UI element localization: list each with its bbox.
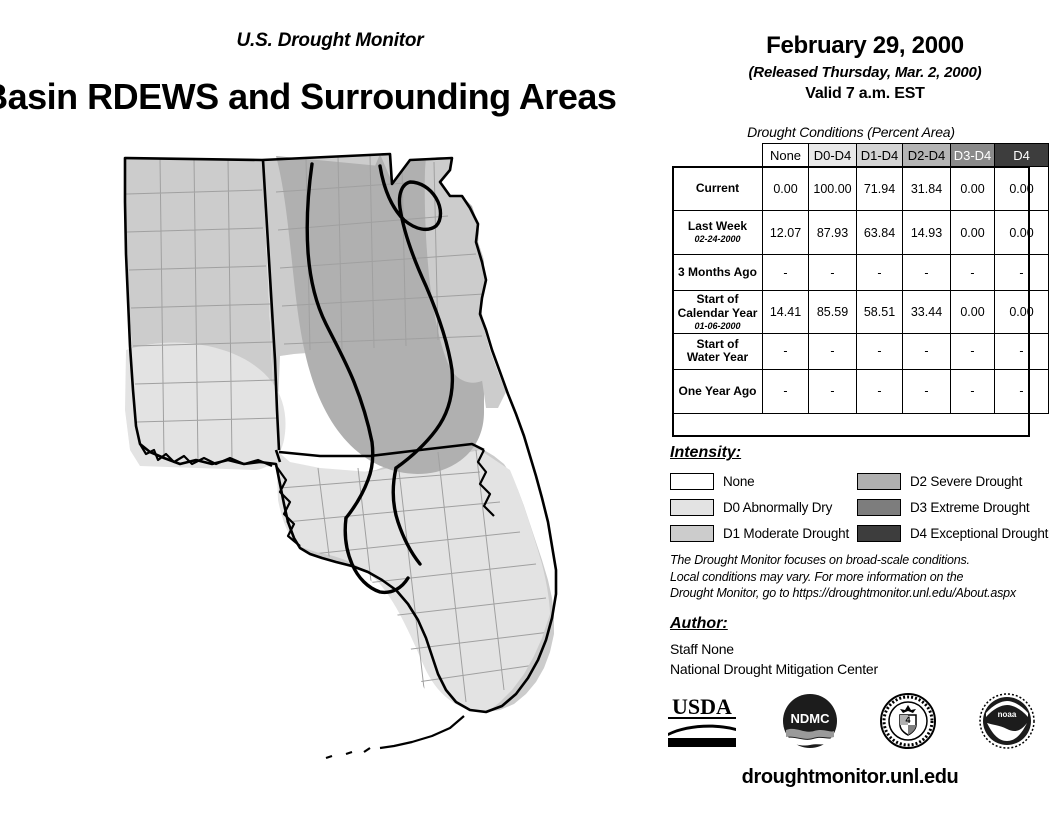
col-header-d2d4: D2-D4: [903, 144, 951, 167]
row-label-text: Last Week: [688, 219, 747, 233]
legend-label-d4: D4 Exceptional Drought: [910, 526, 1048, 541]
row-label-date: 01-06-2000: [676, 321, 759, 331]
disclaimer-line-2: Local conditions may vary. For more info…: [670, 569, 1050, 586]
site-url: droughtmonitor.unl.edu: [665, 766, 1035, 789]
cell-calyear-none: 14.41: [763, 291, 809, 334]
cell-wateryear-none: -: [763, 333, 809, 369]
svg-text:NDMC: NDMC: [790, 711, 830, 726]
row-label-date: 02-24-2000: [676, 234, 759, 244]
author-name: Staff None: [670, 640, 878, 660]
cell-calyear-d4: 0.00: [995, 291, 1049, 334]
cell-calyear-d3d4: 0.00: [951, 291, 995, 334]
usda-logo: USDA: [665, 695, 739, 747]
legend-item-d2: D2 Severe Drought: [857, 468, 1048, 494]
legend-item-d4: D4 Exceptional Drought: [857, 520, 1048, 546]
legend-swatch-d3: [857, 499, 901, 516]
ndmc-logo: NDMC: [782, 693, 838, 749]
legend-column-right: D2 Severe Drought D3 Extreme Drought D4 …: [857, 468, 1048, 546]
cell-oneyear-d1d4: -: [857, 369, 903, 413]
cell-current-d3d4: 0.00: [951, 167, 995, 211]
col-header-d4: D4: [995, 144, 1049, 167]
table-caption: Drought Conditions (Percent Area): [672, 124, 1030, 140]
table-row: Start of Water Year - - - - - -: [673, 333, 1049, 369]
cell-current-none: 0.00: [763, 167, 809, 211]
row-label-last-week: Last Week 02-24-2000: [673, 211, 763, 255]
cell-3mo-d4: -: [995, 255, 1049, 291]
cell-3mo-d3d4: -: [951, 255, 995, 291]
col-header-d3d4: D3-D4: [951, 144, 995, 167]
author-affiliation: National Drought Mitigation Center: [670, 660, 878, 680]
cell-wateryear-d4: -: [995, 333, 1049, 369]
cell-current-d4: 0.00: [995, 167, 1049, 211]
cell-lastweek-d4: 0.00: [995, 211, 1049, 255]
cell-calyear-d1d4: 58.51: [857, 291, 903, 334]
row-label-text: Current: [696, 181, 739, 195]
author-block: Staff None National Drought Mitigation C…: [670, 640, 878, 680]
cell-lastweek-d1d4: 63.84: [857, 211, 903, 255]
svg-text:USDA: USDA: [672, 695, 732, 719]
cell-lastweek-none: 12.07: [763, 211, 809, 255]
cell-oneyear-d0d4: -: [809, 369, 857, 413]
row-label-text: Start of Calendar Year: [678, 292, 758, 320]
cell-oneyear-d3d4: -: [951, 369, 995, 413]
legend-label-d0: D0 Abnormally Dry: [723, 500, 832, 515]
cell-oneyear-d2d4: -: [903, 369, 951, 413]
author-heading: Author:: [670, 615, 728, 633]
cell-wateryear-d3d4: -: [951, 333, 995, 369]
disclaimer-text: The Drought Monitor focuses on broad-sca…: [670, 552, 1050, 602]
legend-item-d0: D0 Abnormally Dry: [670, 494, 849, 520]
cell-oneyear-d4: -: [995, 369, 1049, 413]
cell-current-d1d4: 71.94: [857, 167, 903, 211]
drought-map: [80, 150, 640, 800]
table-row: Start of Calendar Year 01-06-2000 14.41 …: [673, 291, 1049, 334]
col-header-none: None: [763, 144, 809, 167]
row-label-start-water-year: Start of Water Year: [673, 333, 763, 369]
legend-label-none: None: [723, 474, 754, 489]
page-title: er Basin RDEWS and Surrounding Areas: [0, 76, 778, 118]
disclaimer-line-1: The Drought Monitor focuses on broad-sca…: [670, 552, 1050, 569]
cell-3mo-d0d4: -: [809, 255, 857, 291]
noaa-logo: noaa: [979, 693, 1035, 749]
table-row: Current 0.00 100.00 71.94 31.84 0.00 0.0…: [673, 167, 1049, 211]
row-label-one-year-ago: One Year Ago: [673, 369, 763, 413]
logo-row: USDA NDMC 4 noaa: [665, 690, 1035, 752]
legend-item-d1: D1 Moderate Drought: [670, 520, 849, 546]
table-row: 3 Months Ago - - - - - -: [673, 255, 1049, 291]
row-label-current: Current: [673, 167, 763, 211]
row-label-text: One Year Ago: [678, 384, 756, 398]
valid-date: February 29, 2000: [700, 32, 1030, 60]
table-row: One Year Ago - - - - - -: [673, 369, 1049, 413]
svg-text:4: 4: [906, 715, 911, 725]
row-label-start-calendar-year: Start of Calendar Year 01-06-2000: [673, 291, 763, 334]
table-header-row: None D0-D4 D1-D4 D2-D4 D3-D4 D4: [673, 144, 1049, 167]
row-label-text: Start of Water Year: [687, 337, 748, 365]
cell-oneyear-none: -: [763, 369, 809, 413]
row-label-3-months-ago: 3 Months Ago: [673, 255, 763, 291]
cell-current-d0d4: 100.00: [809, 167, 857, 211]
legend-swatch-d0: [670, 499, 714, 516]
cell-wateryear-d1d4: -: [857, 333, 903, 369]
legend-swatch-d2: [857, 473, 901, 490]
legend-title: Intensity:: [670, 444, 741, 462]
legend-column-left: None D0 Abnormally Dry D1 Moderate Droug…: [670, 468, 849, 546]
usda-seal-logo: 4: [880, 693, 936, 749]
disclaimer-line-3: Drought Monitor, go to https://droughtmo…: [670, 585, 1050, 602]
program-subtitle: U.S. Drought Monitor: [0, 30, 660, 52]
valid-time: Valid 7 a.m. EST: [700, 85, 1030, 103]
cell-calyear-d2d4: 33.44: [903, 291, 951, 334]
cell-3mo-d2d4: -: [903, 255, 951, 291]
table-row: Last Week 02-24-2000 12.07 87.93 63.84 1…: [673, 211, 1049, 255]
table-corner-cell: [673, 144, 763, 167]
cell-3mo-d1d4: -: [857, 255, 903, 291]
cell-current-d2d4: 31.84: [903, 167, 951, 211]
legend-label-d2: D2 Severe Drought: [910, 474, 1022, 489]
released-date: (Released Thursday, Mar. 2, 2000): [700, 64, 1030, 81]
cell-3mo-none: -: [763, 255, 809, 291]
legend-label-d1: D1 Moderate Drought: [723, 526, 849, 541]
cell-wateryear-d2d4: -: [903, 333, 951, 369]
drought-conditions-table: None D0-D4 D1-D4 D2-D4 D3-D4 D4 Current …: [672, 143, 1049, 414]
legend-item-none: None: [670, 468, 849, 494]
cell-calyear-d0d4: 85.59: [809, 291, 857, 334]
cell-lastweek-d0d4: 87.93: [809, 211, 857, 255]
legend-swatch-d4: [857, 525, 901, 542]
cell-lastweek-d3d4: 0.00: [951, 211, 995, 255]
col-header-d1d4: D1-D4: [857, 144, 903, 167]
svg-text:noaa: noaa: [998, 710, 1017, 719]
row-label-text: 3 Months Ago: [678, 265, 757, 279]
cell-lastweek-d2d4: 14.93: [903, 211, 951, 255]
legend-item-d3: D3 Extreme Drought: [857, 494, 1048, 520]
cell-wateryear-d0d4: -: [809, 333, 857, 369]
legend-swatch-d1: [670, 525, 714, 542]
legend-swatch-none: [670, 473, 714, 490]
col-header-d0d4: D0-D4: [809, 144, 857, 167]
legend-label-d3: D3 Extreme Drought: [910, 500, 1029, 515]
